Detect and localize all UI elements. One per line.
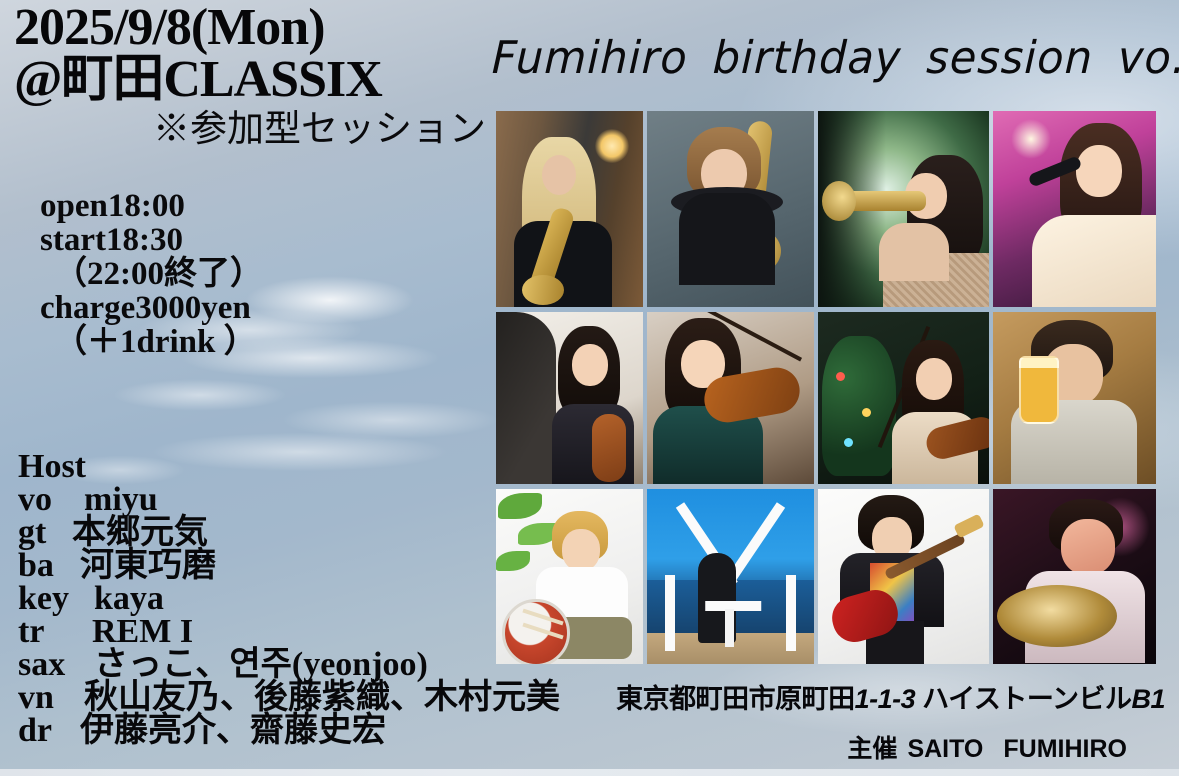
member-names-key: kaya xyxy=(94,582,164,615)
photo-bassist-red xyxy=(818,489,989,664)
role-label-tr: tr xyxy=(18,615,92,648)
organizer-first-name: SAITO xyxy=(907,735,983,763)
open-time: open18:00 xyxy=(40,190,370,223)
photo-drummer-cymbal xyxy=(993,489,1156,664)
organizer-last-name: FUMIHIRO xyxy=(1003,735,1127,763)
venue-address: 東京都町田市原町田1-1-3 ハイストーンビルB1 xyxy=(616,684,1165,714)
performer-photo-grid xyxy=(496,111,1156,669)
photo-vocal-stage xyxy=(993,111,1156,307)
event-details-block: open18:00 start18:30 （22:00終了） charge300… xyxy=(40,190,370,360)
photo-violin-closeup xyxy=(647,312,814,484)
bottom-edge-strip xyxy=(0,769,1179,776)
title-word-4: vo.1 xyxy=(1117,31,1179,84)
photo-sax-blonde xyxy=(496,111,643,307)
end-time: （22:00終了） xyxy=(40,258,370,291)
member-names-ba: 河東巧磨 xyxy=(80,549,216,582)
member-row-vn: vn秋山友乃、後藤紫織、木村元美 xyxy=(18,681,638,714)
role-label-sax: sax xyxy=(18,648,94,681)
organizer-label: 主催 xyxy=(847,735,897,763)
photo-grid-row-3 xyxy=(496,489,1156,664)
member-names-dr: 伊藤亮介、齋藤史宏 xyxy=(80,714,386,747)
member-names-vo: miyu xyxy=(84,483,158,516)
member-row-dr: dr伊藤亮介、齋藤史宏 xyxy=(18,714,638,747)
organizer-line: 主催SAITOFUMIHIRO xyxy=(847,735,1127,763)
photo-sax-short-hair xyxy=(647,111,814,307)
role-label-vo: vo xyxy=(18,483,84,516)
start-time: start18:30 xyxy=(40,224,370,257)
title-word-2: birthday xyxy=(712,31,902,84)
session-type-note: ※参加型セッション xyxy=(14,107,494,151)
photo-house-frame-sea xyxy=(647,489,814,664)
photo-grid-row-2 xyxy=(496,312,1156,484)
flyer-poster: 2025/9/8(Mon) @町田CLASSIX ※参加型セッション open1… xyxy=(0,0,1179,776)
role-label-ba: ba xyxy=(18,549,80,582)
photo-drummer-snare xyxy=(496,489,643,664)
member-names-vn: 秋山友乃、後藤紫織、木村元美 xyxy=(84,681,560,714)
event-venue: @町田CLASSIX xyxy=(14,52,494,108)
event-title: Fumihirobirthdaysessionvo.1 xyxy=(491,34,1179,82)
photo-violin-piano xyxy=(496,312,643,484)
drink-note: （＋1drink ） xyxy=(40,326,370,359)
address-middle: ハイストーンビル xyxy=(915,684,1131,714)
role-label-gt: gt xyxy=(18,516,72,549)
role-label-key: key xyxy=(18,582,94,615)
date-venue-block: 2025/9/8(Mon) @町田CLASSIX ※参加型セッション xyxy=(14,2,494,151)
photo-violin-xmas xyxy=(818,312,989,484)
photo-grid-row-1 xyxy=(496,111,1156,307)
title-word-3: session xyxy=(926,31,1094,84)
event-date: 2025/9/8(Mon) xyxy=(14,2,494,54)
member-names-tr: REM I xyxy=(92,615,193,648)
address-number: 1-1-3 xyxy=(855,684,916,714)
charge: charge3000yen xyxy=(40,292,370,325)
role-label-dr: dr xyxy=(18,714,80,747)
photo-trumpet xyxy=(818,111,989,307)
photo-man-beer xyxy=(993,312,1156,484)
address-floor: B1 xyxy=(1131,684,1165,714)
role-label-vn: vn xyxy=(18,681,84,714)
address-prefix: 東京都町田市原町田 xyxy=(616,684,855,714)
member-names-gt: 本郷元気 xyxy=(72,516,208,549)
title-word-1: Fumihiro xyxy=(491,31,689,84)
member-names-sax: さっこ、연주(yeonjoo) xyxy=(94,648,428,681)
